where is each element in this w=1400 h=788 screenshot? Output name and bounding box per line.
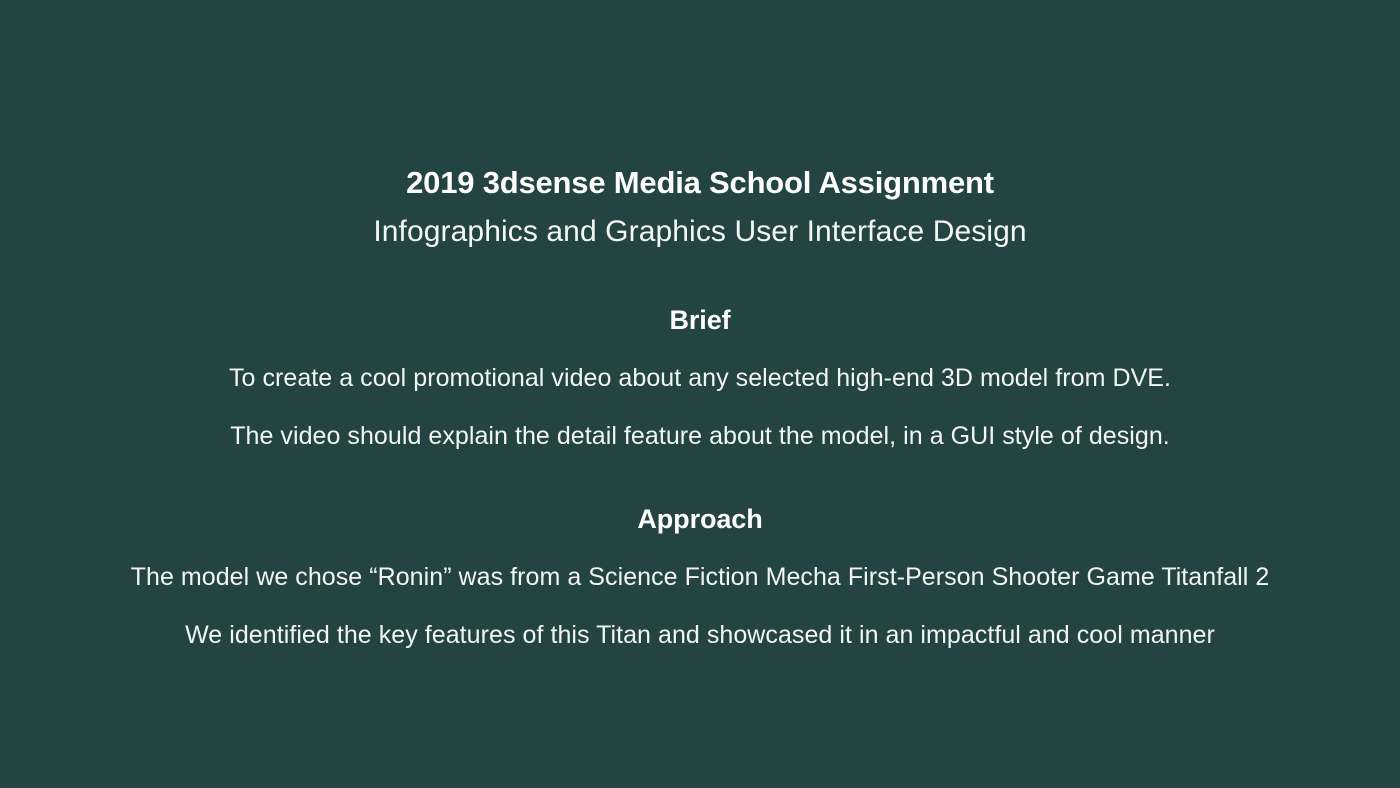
section-body-approach: The model we chose “Ronin” was from a Sc…	[0, 562, 1400, 652]
section-body-brief: To create a cool promotional video about…	[0, 363, 1400, 453]
slide-title: 2019 3dsense Media School Assignment	[0, 163, 1400, 203]
section-heading-brief: Brief	[0, 304, 1400, 336]
body-line: The model we chose “Ronin” was from a Sc…	[0, 562, 1400, 593]
presentation-slide: 2019 3dsense Media School Assignment Inf…	[0, 0, 1400, 788]
section-heading-approach: Approach	[0, 503, 1400, 535]
body-line: We identified the key features of this T…	[0, 620, 1400, 651]
title-block: 2019 3dsense Media School Assignment Inf…	[0, 163, 1400, 251]
section-approach: Approach The model we chose “Ronin” was …	[0, 503, 1400, 652]
slide-subtitle: Infographics and Graphics User Interface…	[0, 212, 1400, 251]
section-brief: Brief To create a cool promotional video…	[0, 304, 1400, 453]
body-line: To create a cool promotional video about…	[0, 363, 1400, 394]
body-line: The video should explain the detail feat…	[0, 421, 1400, 452]
